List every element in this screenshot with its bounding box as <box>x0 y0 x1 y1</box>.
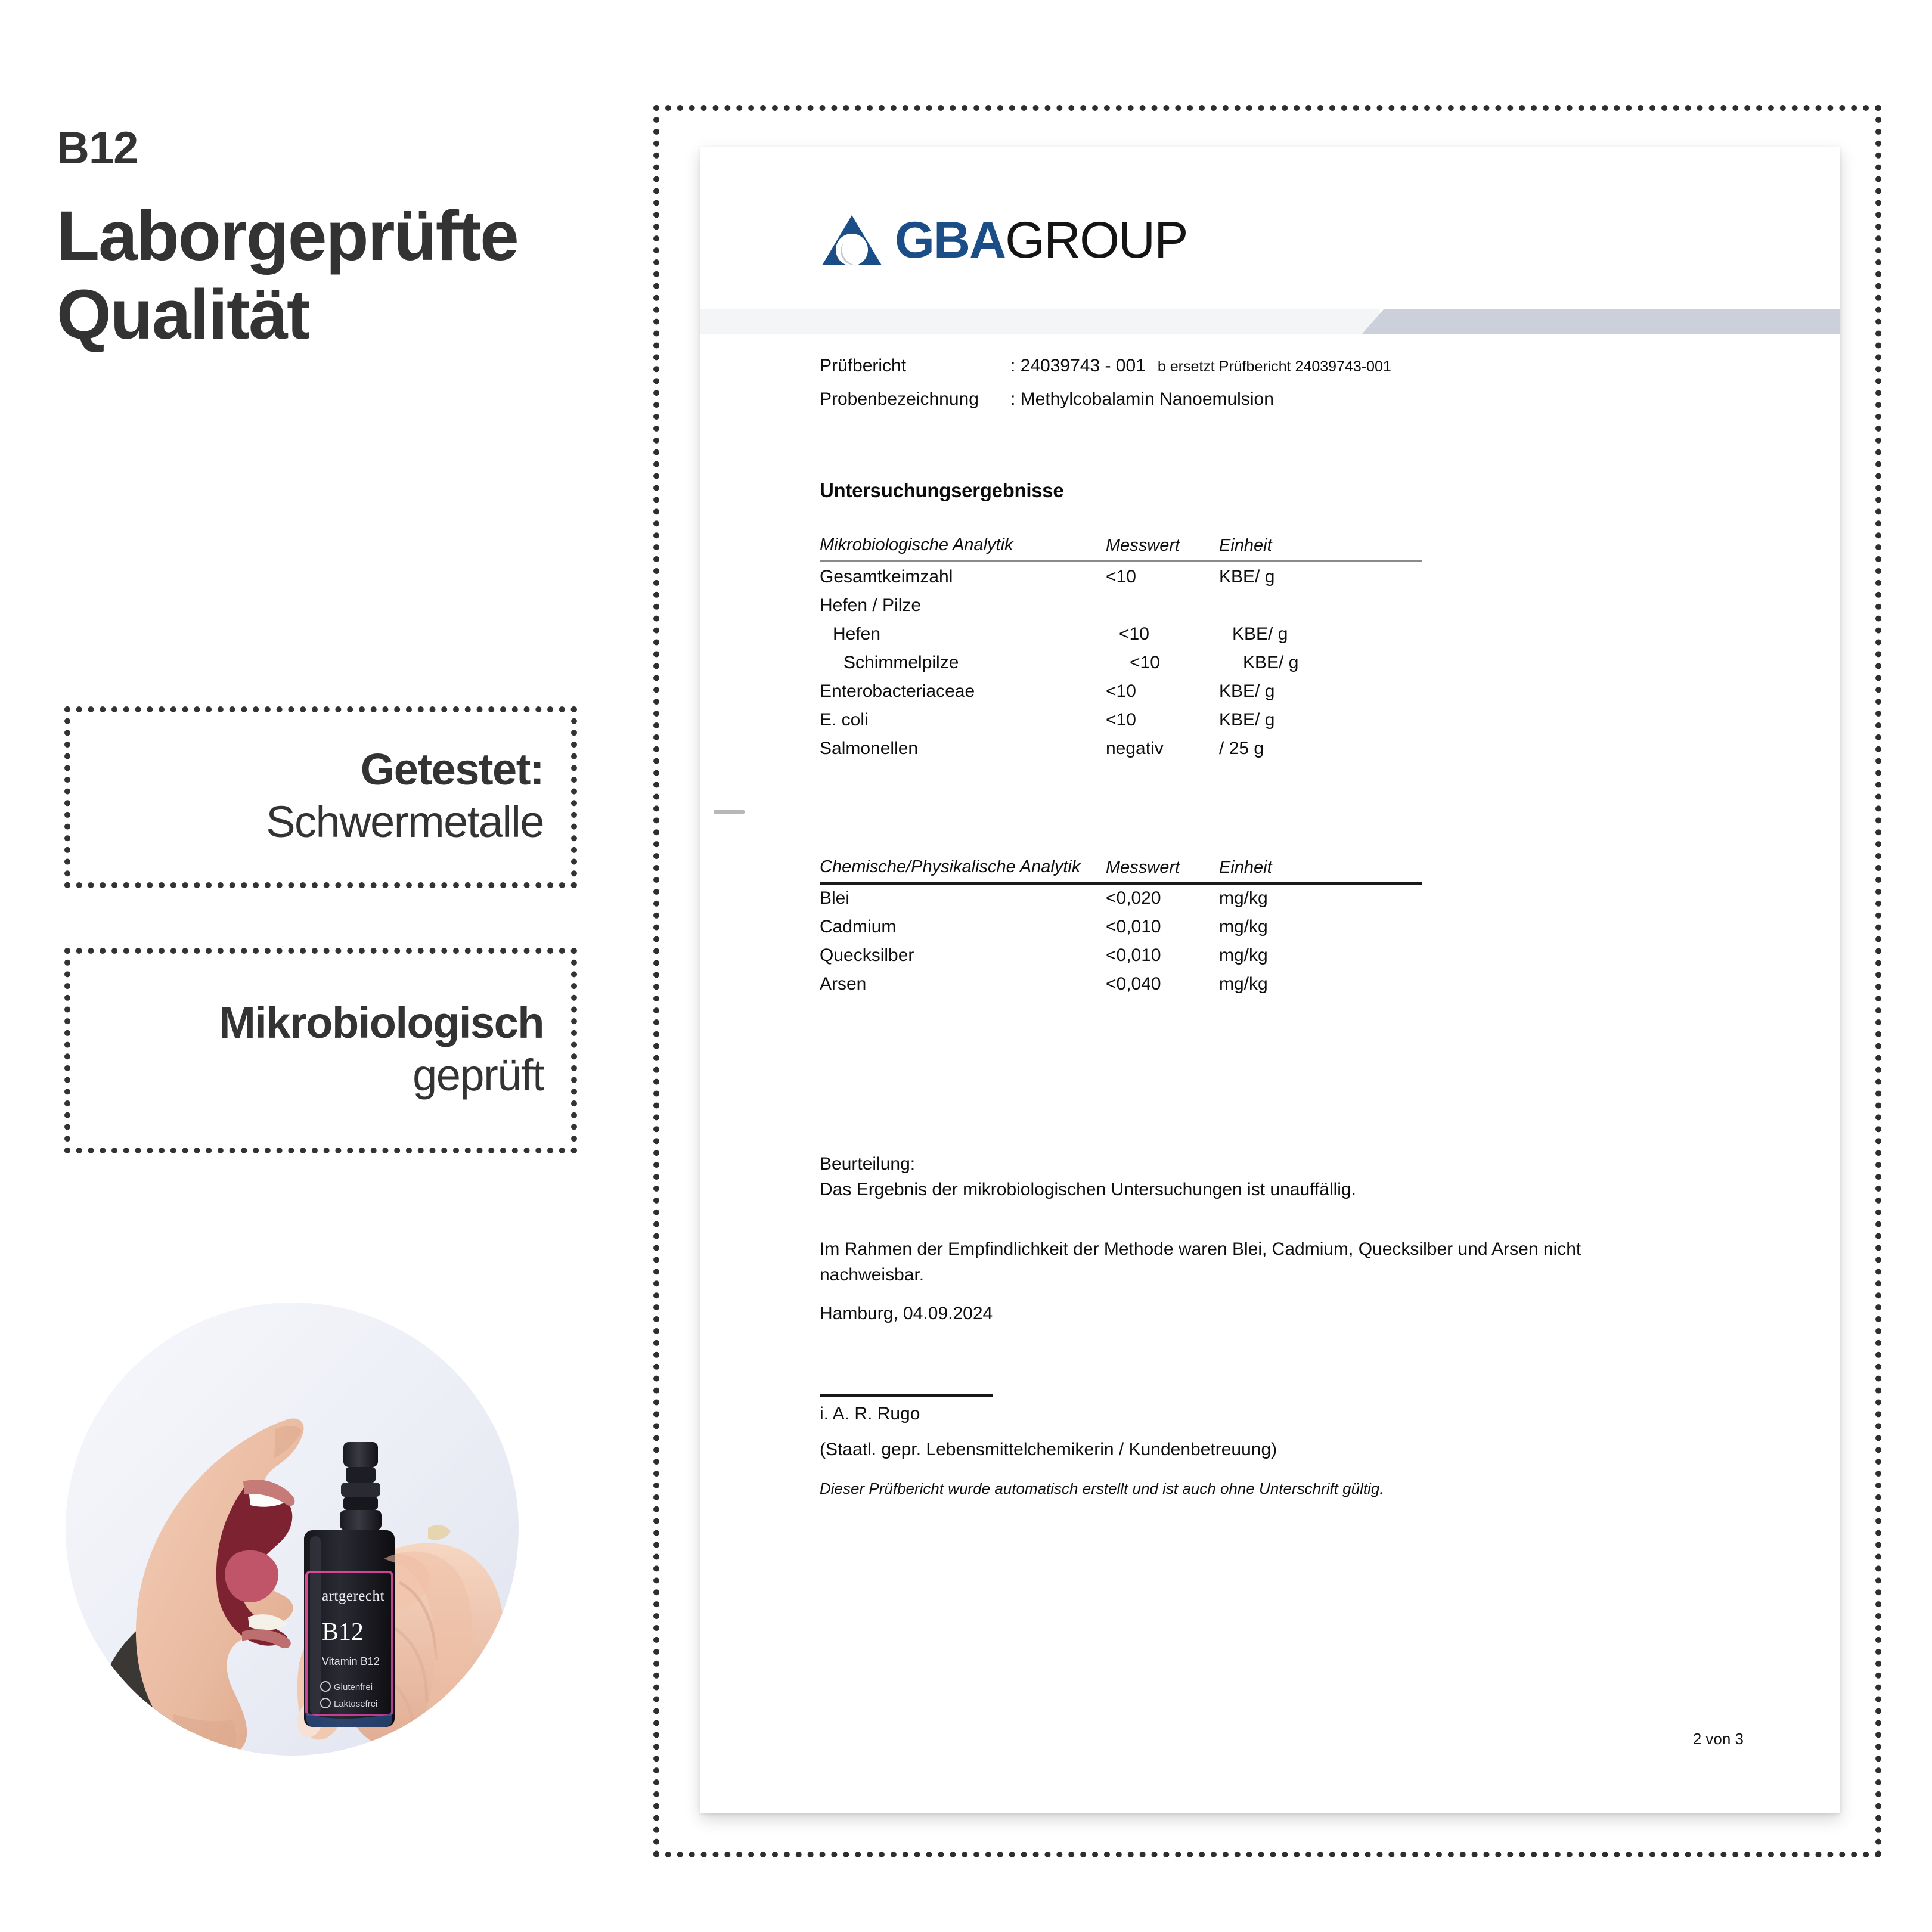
table-row: E. coli <10 KBE/ g <box>820 710 1422 739</box>
cell-unit: mg/kg <box>1219 917 1338 937</box>
header-band <box>700 309 1840 334</box>
logo-text-group: GROUP <box>1005 212 1187 269</box>
product-photo-illustration: artgerecht B12 Vitamin B12 Glutenfrei La… <box>66 1303 519 1756</box>
cell-analyte: Cadmium <box>820 917 1106 937</box>
meta-label-pruefbericht: Prüfbericht <box>820 356 1010 376</box>
cell-analyte: Quecksilber <box>820 945 1106 966</box>
product-eyebrow: B12 <box>57 122 138 174</box>
badge-microbiological-tested: Mikrobiologisch geprüft <box>64 948 577 1153</box>
assessment-line-1: Das Ergebnis der mikrobiologischen Unter… <box>820 1177 1690 1203</box>
cell-unit: KBE/ g <box>1243 653 1362 673</box>
signatory-name: i. A. R. Rugo <box>820 1404 920 1424</box>
cell-analyte: Gesamtkeimzahl <box>820 567 1106 587</box>
page-number: 2 von 3 <box>1693 1730 1744 1748</box>
badge-tested-heavy-metals: Getestet: Schwermetalle <box>64 706 577 888</box>
margin-tick-mark <box>714 810 745 814</box>
table-row: Blei <0,020 mg/kg <box>820 888 1422 917</box>
cell-value: <0,010 <box>1106 917 1219 937</box>
table-microbiological: Mikrobiologische Analytik Messwert Einhe… <box>820 535 1422 767</box>
logo-text-gba: GBA <box>895 212 1005 269</box>
cell-unit: KBE/ g <box>1219 681 1338 702</box>
cell-unit: KBE/ g <box>1232 624 1351 644</box>
headline-line-2: Qualität <box>57 275 593 354</box>
badge-2-strong: Mikrobiologisch <box>98 997 544 1049</box>
cell-unit: mg/kg <box>1219 974 1338 994</box>
signature-line <box>820 1394 993 1397</box>
left-promo-panel: B12 Laborgeprüfte Qualität Getestet: Sch… <box>0 0 644 1932</box>
cell-analyte: Arsen <box>820 974 1106 994</box>
table-row: Hefen <10 KBE/ g <box>820 624 1422 653</box>
table-chem-header-name: Chemische/Physikalische Analytik <box>820 857 1106 877</box>
table-chem-header-unit: Einheit <box>1219 858 1338 877</box>
table-chem-header-value: Messwert <box>1106 858 1219 877</box>
table-chemical-physical: Chemische/Physikalische Analytik Messwer… <box>820 857 1422 1003</box>
signature-disclaimer: Dieser Prüfbericht wurde automatisch ers… <box>820 1480 1384 1498</box>
meta-value-probenbezeichnung: : Methylcobalamin Nanoemulsion <box>1010 389 1274 410</box>
cell-unit: KBE/ g <box>1219 710 1338 730</box>
cell-analyte: E. coli <box>820 710 1106 730</box>
header-band-left <box>700 309 1380 334</box>
section-title-results: Untersuchungsergebnisse <box>820 479 1063 502</box>
gba-group-logo: GBAGROUP <box>820 213 1187 268</box>
lab-report-page: GBAGROUP Prüfbericht : 24039743 - 001 b … <box>700 147 1840 1813</box>
table-micro-header-unit: Einheit <box>1219 536 1338 556</box>
table-row: Gesamtkeimzahl <10 KBE/ g <box>820 567 1422 596</box>
cell-analyte: Hefen <box>820 624 1119 644</box>
assessment-line-2: Im Rahmen der Empfindlichkeit der Method… <box>820 1237 1690 1288</box>
cell-unit: mg/kg <box>1219 945 1338 966</box>
cell-value: negativ <box>1106 739 1219 759</box>
cell-analyte: Enterobacteriaceae <box>820 681 1106 702</box>
table-row: Enterobacteriaceae <10 KBE/ g <box>820 681 1422 710</box>
headline-line-1: Laborgeprüfte <box>57 197 593 275</box>
cell-value: <10 <box>1106 681 1219 702</box>
table-micro-header-value: Messwert <box>1106 536 1219 556</box>
signatory-role: (Staatl. gepr. Lebensmittelchemikerin / … <box>820 1440 1277 1460</box>
meta-label-probenbezeichnung: Probenbezeichnung <box>820 389 1010 410</box>
assessment-heading: Beurteilung: <box>820 1152 1690 1177</box>
cell-value: <0,010 <box>1106 945 1219 966</box>
report-meta: Prüfbericht : 24039743 - 001 b ersetzt P… <box>820 356 1391 423</box>
cell-analyte: Schimmelpilze <box>820 653 1130 673</box>
cell-value: <0,020 <box>1106 888 1219 908</box>
table-chem-header-row: Chemische/Physikalische Analytik Messwer… <box>820 857 1422 882</box>
badge-1-light: Schwermetalle <box>98 796 544 848</box>
product-photo: artgerecht B12 Vitamin B12 Glutenfrei La… <box>66 1303 519 1756</box>
assessment-block: Beurteilung: Das Ergebnis der mikrobiolo… <box>820 1152 1690 1288</box>
page-title: Laborgeprüfte Qualität <box>57 197 593 354</box>
cell-analyte: Blei <box>820 888 1106 908</box>
table-row: Schimmelpilze <10 KBE/ g <box>820 653 1422 681</box>
cell-value: <10 <box>1106 567 1219 587</box>
table-row: Salmonellen negativ / 25 g <box>820 739 1422 767</box>
table-row: Cadmium <0,010 mg/kg <box>820 917 1422 945</box>
cell-value: <10 <box>1106 710 1219 730</box>
cell-value: <10 <box>1119 624 1232 644</box>
assessment-gap <box>820 1202 1690 1237</box>
table-row: Quecksilber <0,010 mg/kg <box>820 945 1422 974</box>
cell-value: <0,040 <box>1106 974 1219 994</box>
place-and-date: Hamburg, 04.09.2024 <box>820 1304 993 1324</box>
cell-value: <10 <box>1130 653 1243 673</box>
meta-row-pruefbericht: Prüfbericht : 24039743 - 001 b ersetzt P… <box>820 356 1391 376</box>
table-row: Hefen / Pilze <box>820 596 1422 624</box>
header-band-right <box>1407 309 1840 334</box>
cell-unit: / 25 g <box>1219 739 1338 759</box>
table-micro-rule <box>820 560 1422 562</box>
table-chem-rule <box>820 882 1422 885</box>
badge-1-strong: Getestet: <box>98 743 544 795</box>
cell-analyte: Hefen / Pilze <box>820 596 1106 616</box>
meta-row-probenbezeichnung: Probenbezeichnung : Methylcobalamin Nano… <box>820 389 1391 410</box>
cell-unit: KBE/ g <box>1219 567 1338 587</box>
meta-suffix-pruefbericht: b ersetzt Prüfbericht 24039743-001 <box>1158 358 1391 376</box>
gba-triangle-logo-icon <box>820 213 884 268</box>
table-row: Arsen <0,040 mg/kg <box>820 974 1422 1003</box>
table-micro-header-row: Mikrobiologische Analytik Messwert Einhe… <box>820 535 1422 560</box>
meta-value-pruefbericht: : 24039743 - 001 <box>1010 356 1146 376</box>
table-micro-header-name: Mikrobiologische Analytik <box>820 535 1106 556</box>
badge-2-light: geprüft <box>98 1049 544 1101</box>
cell-unit: mg/kg <box>1219 888 1338 908</box>
cell-analyte: Salmonellen <box>820 739 1106 759</box>
